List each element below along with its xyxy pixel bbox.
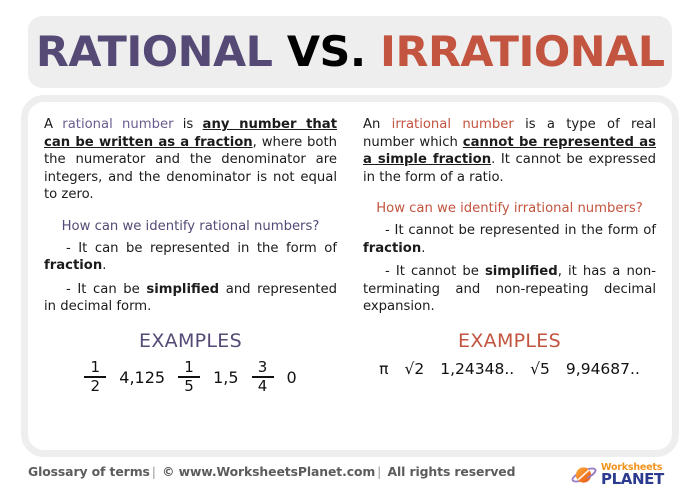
content-card: A rational number is any number that can… — [28, 102, 672, 450]
footer: Glossary of terms| © www.WorksheetsPlane… — [0, 458, 700, 495]
fraction-denominator: 4 — [254, 379, 272, 395]
fraction-denominator: 5 — [180, 379, 198, 395]
example-decimal: 1,24348.. — [440, 360, 514, 378]
title-word-irrational: IRRATIONAL — [380, 27, 665, 76]
footer-site[interactable]: www.WorksheetsPlanet.com — [179, 464, 376, 479]
rational-definition: A rational number is any number that can… — [44, 116, 337, 204]
irrational-bullet-1: - It cannot be represented in the form o… — [363, 222, 656, 257]
fraction-numerator: 3 — [254, 360, 272, 376]
irrational-def-lead: An — [363, 117, 380, 132]
worksheets-planet-logo[interactable]: Worksheets PLANET — [570, 460, 674, 490]
example-decimal: 9,94687.. — [566, 360, 640, 378]
logo-wordmark: Worksheets PLANET — [601, 463, 664, 487]
example-sqrt-5: √5 — [530, 360, 550, 378]
fraction-numerator: 1 — [86, 360, 104, 376]
irrational-examples-label: EXAMPLES — [363, 330, 656, 352]
title-word-rational: RATIONAL — [36, 27, 273, 76]
fraction-denominator: 2 — [86, 379, 104, 395]
example-decimal: 4,125 — [119, 368, 165, 387]
rational-bullet-1: - It can be represented in the form of f… — [44, 240, 337, 275]
irrational-question: How can we identify irrational numbers? — [363, 200, 656, 217]
footer-credit: Glossary of terms| © www.WorksheetsPlane… — [28, 464, 515, 479]
page-title: RATIONAL VS. IRRATIONAL — [36, 31, 665, 73]
example-fraction: 1 2 — [84, 360, 106, 395]
copyright-icon: © — [162, 464, 174, 479]
irrational-definition: An irrational number is a type of real n… — [363, 116, 656, 186]
irrational-bullets: - It cannot be represented in the form o… — [363, 222, 656, 316]
example-fraction: 1 5 — [178, 360, 200, 395]
irrational-bullet-1-bold: fraction — [363, 241, 421, 256]
rational-column: A rational number is any number that can… — [44, 116, 350, 440]
rational-examples-label: EXAMPLES — [44, 330, 337, 352]
infographic-poster: RATIONAL VS. IRRATIONAL A rational numbe… — [0, 0, 700, 495]
example-sqrt-2: √2 — [404, 360, 424, 378]
example-decimal: 1,5 — [213, 368, 238, 387]
logo-word-planet: PLANET — [601, 472, 664, 487]
irrational-bullet-1-post: . — [421, 241, 425, 256]
irrational-column: An irrational number is a type of real n… — [350, 116, 656, 440]
rational-keyword: rational number — [62, 117, 173, 132]
irrational-bullet-2-pre: - It cannot be — [385, 264, 485, 279]
footer-glossary: Glossary of terms — [28, 464, 150, 479]
rational-bullets: - It can be represented in the form of f… — [44, 240, 337, 316]
irrational-keyword: irrational number — [392, 117, 514, 132]
rational-bullet-1-post: . — [102, 258, 106, 273]
rational-question: How can we identify rational numbers? — [44, 218, 337, 235]
irrational-bullet-1-pre: - It cannot be represented in the form o… — [385, 223, 656, 238]
rational-def-lead: A — [44, 117, 53, 132]
fraction-numerator: 1 — [180, 360, 198, 376]
footer-separator-2: | — [375, 464, 383, 479]
rational-bullet-1-bold: fraction — [44, 258, 102, 273]
footer-rights: All rights reserved — [387, 464, 515, 479]
irrational-examples-row: π √2 1,24348.. √5 9,94687.. — [363, 360, 656, 378]
planet-icon — [570, 463, 598, 487]
rational-bullet-2-pre: - It can be — [66, 282, 146, 297]
rational-def-mid: is — [183, 117, 194, 132]
example-zero: 0 — [287, 368, 297, 387]
example-pi: π — [379, 360, 388, 378]
irrational-bullet-2: - It cannot be simplified, it has a non-… — [363, 263, 656, 316]
title-banner: RATIONAL VS. IRRATIONAL — [28, 16, 672, 88]
rational-bullet-2: - It can be simplified and represented i… — [44, 281, 337, 316]
example-fraction: 3 4 — [252, 360, 274, 395]
title-word-vs: VS. — [287, 27, 366, 76]
rational-bullet-2-bold: simplified — [146, 282, 219, 297]
rational-examples-row: 1 2 4,125 1 5 1,5 3 4 0 — [44, 360, 337, 395]
rational-bullet-1-pre: - It can be represented in the form of — [66, 241, 337, 256]
irrational-bullet-2-bold: simplified — [485, 264, 558, 279]
footer-separator-1: | — [150, 464, 158, 479]
